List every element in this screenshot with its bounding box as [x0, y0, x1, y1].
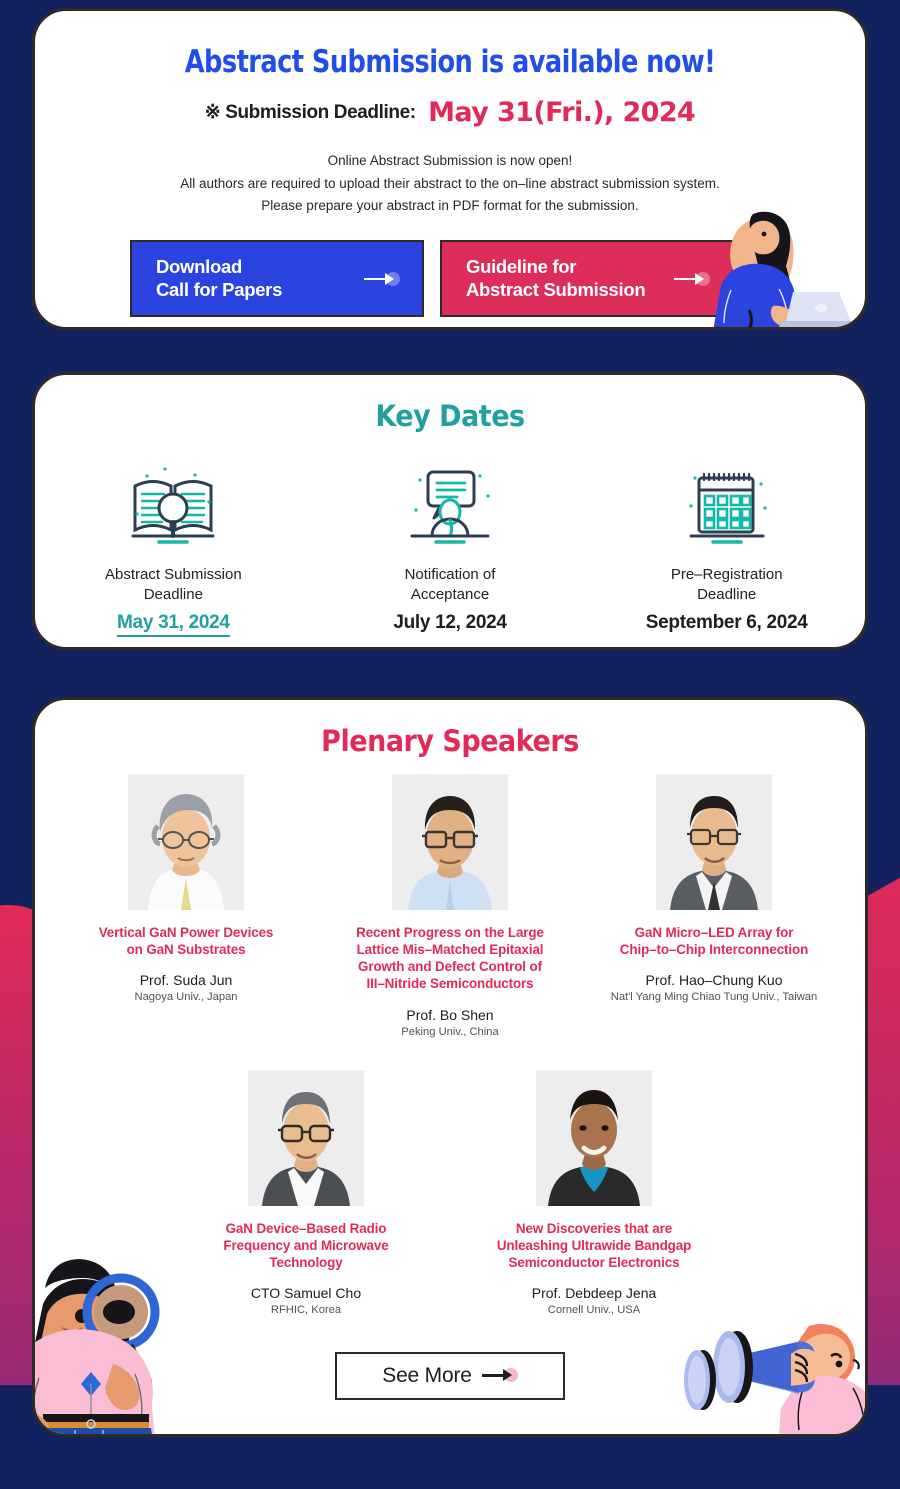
key-date-label: Abstract Submission Deadline — [35, 565, 312, 606]
speaker-affiliation: Peking Univ., China — [335, 1026, 565, 1038]
see-more-button[interactable]: See More — [335, 1352, 565, 1400]
deadline-label: ※ Submission Deadline: — [205, 102, 416, 123]
plenary-speakers-card: Plenary Speakers — [32, 697, 868, 1437]
key-date-value: September 6, 2024 — [646, 612, 808, 634]
speaker-card[interactable]: Vertical GaN Power Devices on GaN Substr… — [71, 774, 301, 1038]
portrait-debdeep-jena — [536, 1070, 652, 1206]
key-dates-grid: Abstract Submission Deadline May 31, 202… — [35, 451, 865, 637]
speaker-affiliation: Nagoya Univ., Japan — [71, 991, 301, 1003]
key-date-label: Notification of Acceptance — [312, 565, 589, 606]
cta-button-row: Download Call for Papers Guideline for A… — [130, 240, 734, 317]
download-call-for-papers-button[interactable]: Download Call for Papers — [130, 240, 424, 317]
speaker-name: Prof. Bo Shen — [335, 1007, 565, 1023]
speaker-name: Prof. Suda Jun — [71, 972, 301, 988]
speaker-affiliation: Cornell Univ., USA — [479, 1304, 709, 1316]
key-date-item: Notification of Acceptance July 12, 2024 — [312, 451, 589, 637]
key-date-item: Abstract Submission Deadline May 31, 202… — [35, 451, 312, 637]
girl-with-magnifier-illustration — [32, 1208, 227, 1437]
speaker-card[interactable]: GaN Micro–LED Array for Chip–to–Chip Int… — [599, 774, 829, 1038]
key-dates-title: Key Dates — [64, 399, 836, 433]
page-title: Abstract Submission is available now! — [68, 44, 832, 80]
speaker-affiliation: Nat'l Yang Ming Chiao Tung Univ., Taiwan — [599, 991, 829, 1003]
guideline-abstract-submission-label: Guideline for Abstract Submission — [466, 256, 645, 300]
speaker-name: Prof. Hao–Chung Kuo — [599, 972, 829, 988]
arrow-right-icon — [482, 1367, 518, 1385]
description-line-1: Online Abstract Submission is now open! — [35, 150, 865, 173]
speaker-talk-title: Recent Progress on the Large Lattice Mis… — [335, 924, 565, 993]
speaker-row-1: Vertical GaN Power Devices on GaN Substr… — [35, 774, 865, 1038]
speaker-talk-title: Vertical GaN Power Devices on GaN Substr… — [71, 924, 301, 958]
speech-bubble-person-icon — [312, 451, 589, 561]
book-magnifier-icon — [35, 451, 312, 561]
portrait-samuel-cho — [248, 1070, 364, 1206]
abstract-submission-card: Abstract Submission is available now! ※ … — [32, 8, 868, 330]
calendar-icon — [588, 451, 865, 561]
speaker-name: Prof. Debdeep Jena — [479, 1285, 709, 1301]
portrait-hao-chung-kuo — [656, 774, 772, 910]
woman-at-laptop-illustration — [661, 186, 851, 330]
deadline-date: May 31(Fri.), 2024 — [428, 97, 695, 128]
speaker-talk-title: GaN Micro–LED Array for Chip–to–Chip Int… — [599, 924, 829, 958]
portrait-suda-jun — [128, 774, 244, 910]
key-date-value: July 12, 2024 — [393, 612, 506, 634]
plenary-speakers-title: Plenary Speakers — [64, 724, 836, 758]
submission-deadline: ※ Submission Deadline: May 31(Fri.), 202… — [35, 97, 865, 128]
arrow-right-icon — [364, 269, 400, 289]
speaker-talk-title: New Discoveries that are Unleashing Ultr… — [479, 1220, 709, 1271]
portrait-bo-shen — [392, 774, 508, 910]
key-date-label: Pre–Registration Deadline — [588, 565, 865, 606]
speaker-card[interactable]: Recent Progress on the Large Lattice Mis… — [335, 774, 565, 1038]
see-more-label: See More — [382, 1364, 471, 1388]
download-call-for-papers-label: Download Call for Papers — [156, 256, 282, 300]
key-date-value: May 31, 2024 — [117, 612, 230, 637]
key-date-item: Pre–Registration Deadline September 6, 2… — [588, 451, 865, 637]
key-dates-card: Key Dates — [32, 372, 868, 650]
speaker-card[interactable]: New Discoveries that are Unleashing Ultr… — [479, 1070, 709, 1316]
person-with-binoculars-illustration — [681, 1284, 868, 1437]
